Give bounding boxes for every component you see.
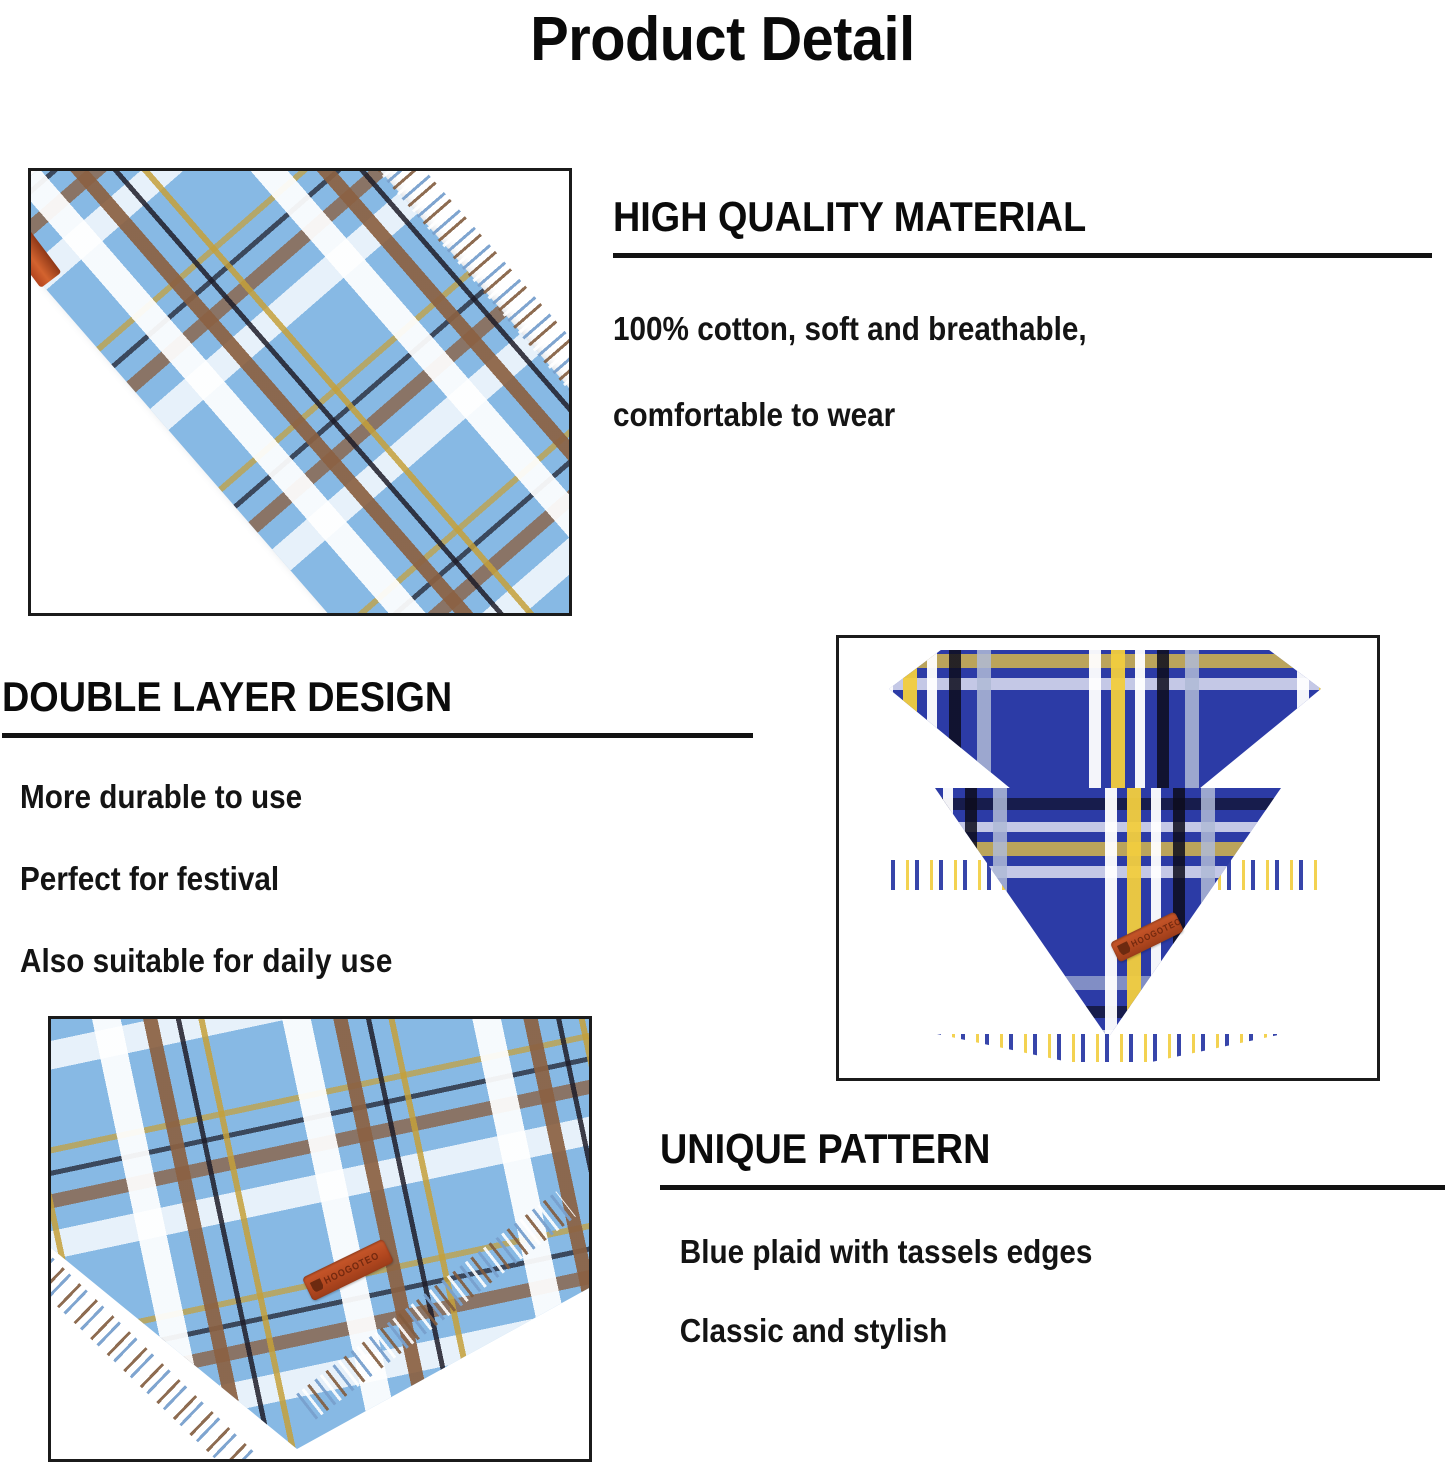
photo-stage [31, 171, 569, 613]
feature-line: Also suitable for daily use [2, 920, 686, 1002]
feature-line-emphasis: for daily use [213, 942, 393, 979]
bandana-lightblue: HOOGOTEO [51, 1019, 583, 1453]
bandana-lower-fold [935, 788, 1281, 1038]
feature-line: Classic and stylish [660, 1291, 1367, 1370]
feature-line: comfortable to wear [613, 372, 1362, 458]
photo-stage: HOOGOTEO [51, 1019, 589, 1459]
plaid-scarf-band [28, 168, 572, 616]
product-photo-fringe-closeup [28, 168, 572, 616]
product-photo-blue-bandana: HOOGOTEO [836, 635, 1380, 1081]
plaid-fabric-royalblue [935, 788, 1281, 1038]
feature-line: More durable to use [2, 756, 686, 838]
folded-bandana-blue: HOOGOTEO [839, 638, 1371, 1072]
feature-double-layer-design: DOUBLE LAYER DESIGN More durable to use … [2, 672, 762, 1002]
heading-divider-rule [613, 253, 1432, 258]
feature-line: Perfect for festival [2, 838, 686, 920]
paw-print-icon [1117, 941, 1132, 956]
heading-divider-rule [660, 1185, 1445, 1190]
heading-divider-rule [2, 733, 753, 738]
feature-body: More durable to use Perfect for festival… [2, 756, 762, 1002]
paw-print-icon [310, 1278, 325, 1293]
feature-heading: HIGH QUALITY MATERIAL [613, 192, 1362, 242]
plaid-fabric-lightblue [28, 168, 572, 616]
feature-heading: UNIQUE PATTERN [660, 1124, 1367, 1174]
feature-body: 100% cotton, soft and breathable, comfor… [613, 286, 1445, 458]
feature-body: Blue plaid with tassels edges Classic an… [660, 1212, 1445, 1370]
tassel-fringe-lower [937, 1034, 1283, 1062]
page-title: Product Detail [51, 4, 1395, 76]
feature-line: Blue plaid with tassels edges [660, 1212, 1367, 1291]
feature-line: 100% cotton, soft and breathable, [613, 286, 1362, 372]
feature-high-quality-material: HIGH QUALITY MATERIAL 100% cotton, soft … [613, 192, 1445, 458]
feature-heading: DOUBLE LAYER DESIGN [2, 672, 686, 722]
feature-line-text: Also suitable [20, 942, 213, 979]
feature-unique-pattern: UNIQUE PATTERN Blue plaid with tassels e… [660, 1124, 1445, 1370]
photo-stage: HOOGOTEO [839, 638, 1377, 1078]
product-photo-lightblue-bandana: HOOGOTEO [48, 1016, 592, 1462]
